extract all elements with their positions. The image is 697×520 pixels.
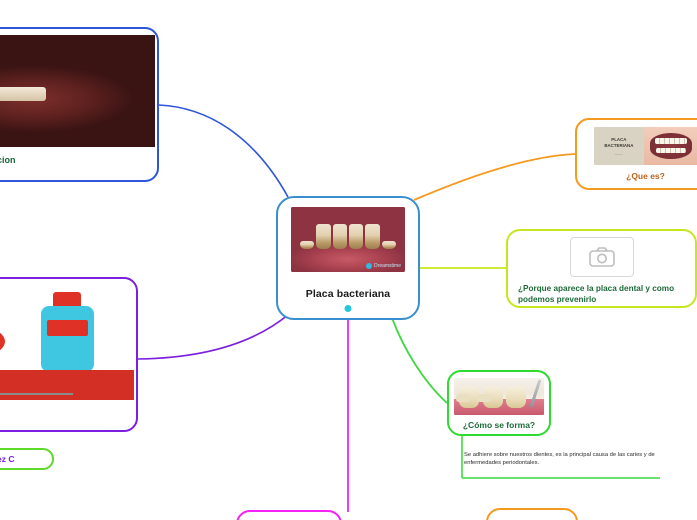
tooth bbox=[382, 241, 396, 248]
tartar-scaling-photo bbox=[454, 378, 544, 415]
tooth bbox=[506, 387, 526, 408]
mouth-closeup-video[interactable] bbox=[0, 35, 155, 147]
tooth bbox=[333, 224, 347, 249]
central-node[interactable]: Dreamstime Placa bacteriana bbox=[276, 196, 420, 320]
central-node-label: Placa bacteriana bbox=[306, 288, 390, 300]
connector-mineralizacion bbox=[159, 105, 288, 197]
watermark-text: Dreamstime bbox=[374, 263, 401, 269]
node-como-se-forma[interactable]: ¿Cómo se forma? bbox=[447, 370, 551, 436]
placa-bacteriana-poster: PLACABACTERIANA _____ bbox=[594, 127, 697, 165]
node-anchor-dot bbox=[345, 305, 352, 312]
watermark-dot bbox=[366, 263, 372, 269]
watermark: Dreamstime bbox=[366, 263, 401, 269]
poster-left-panel: PLACABACTERIANA _____ bbox=[594, 127, 645, 165]
tooth bbox=[300, 241, 314, 248]
tooth bbox=[316, 224, 330, 249]
bottle-label bbox=[47, 320, 87, 336]
author-label: Sanchez C bbox=[0, 454, 15, 464]
teeth-highlight bbox=[0, 87, 46, 102]
connector-quees bbox=[414, 154, 575, 200]
node-author[interactable]: Sanchez C bbox=[0, 448, 54, 470]
lips-illustration bbox=[650, 133, 693, 159]
poster-subtitle: _____ bbox=[615, 151, 623, 155]
calculus-deposit bbox=[477, 394, 491, 402]
video-caption-bar: ás siguiendo? bbox=[0, 370, 134, 400]
lower-teeth bbox=[656, 148, 686, 153]
mouth-photo: Dreamstime bbox=[291, 207, 405, 272]
teeth-with-plaque-photo: Dreamstime bbox=[291, 207, 405, 272]
node-porque-label: ¿Porque aparece la placa dental y como p… bbox=[518, 284, 685, 305]
node-porque[interactable]: ¿Porque aparece la placa dental y como p… bbox=[506, 229, 697, 308]
poster-right-panel bbox=[644, 127, 697, 165]
camera-icon bbox=[589, 247, 615, 267]
upper-teeth bbox=[655, 138, 687, 144]
video-progress-bar[interactable] bbox=[0, 393, 73, 395]
node-bottom-magenta[interactable] bbox=[236, 510, 342, 520]
tooth bbox=[349, 224, 363, 249]
gums-photo bbox=[454, 378, 544, 415]
node-bottom-orange[interactable] bbox=[486, 508, 578, 520]
lips-icon bbox=[0, 324, 5, 359]
node-mineralizacion[interactable]: de mineralizacion bbox=[0, 27, 159, 182]
mouthwash-thumbnail: ás siguiendo? bbox=[0, 285, 134, 400]
connector-comoseforma bbox=[392, 318, 447, 403]
mouthwash-bottle bbox=[41, 306, 94, 373]
poster-image: PLACABACTERIANA _____ bbox=[594, 127, 697, 165]
tooth bbox=[365, 224, 379, 249]
node-que-es-label: ¿Que es? bbox=[626, 171, 665, 181]
note-se-adhiere: Se adhiere sobre nuestros dientes, es la… bbox=[464, 451, 660, 468]
image-placeholder[interactable] bbox=[570, 237, 634, 277]
connector-enjuague bbox=[138, 314, 289, 359]
node-mineralizacion-label: de mineralizacion bbox=[0, 155, 16, 166]
node-como-se-forma-label: ¿Cómo se forma? bbox=[463, 420, 535, 430]
mindmap-canvas: de mineralizacion ás siguiendo? dental? … bbox=[0, 0, 697, 520]
node-enjuague[interactable]: ás siguiendo? dental? bbox=[0, 277, 138, 432]
poster-title: PLACABACTERIANA bbox=[604, 137, 633, 147]
teeth-row bbox=[300, 224, 396, 249]
calculus-deposit bbox=[456, 394, 470, 402]
node-que-es[interactable]: PLACABACTERIANA _____ ¿Que es? bbox=[575, 118, 697, 190]
mouth-closeup-photo bbox=[0, 35, 155, 147]
mouthwash-video[interactable]: ás siguiendo? bbox=[0, 285, 134, 400]
